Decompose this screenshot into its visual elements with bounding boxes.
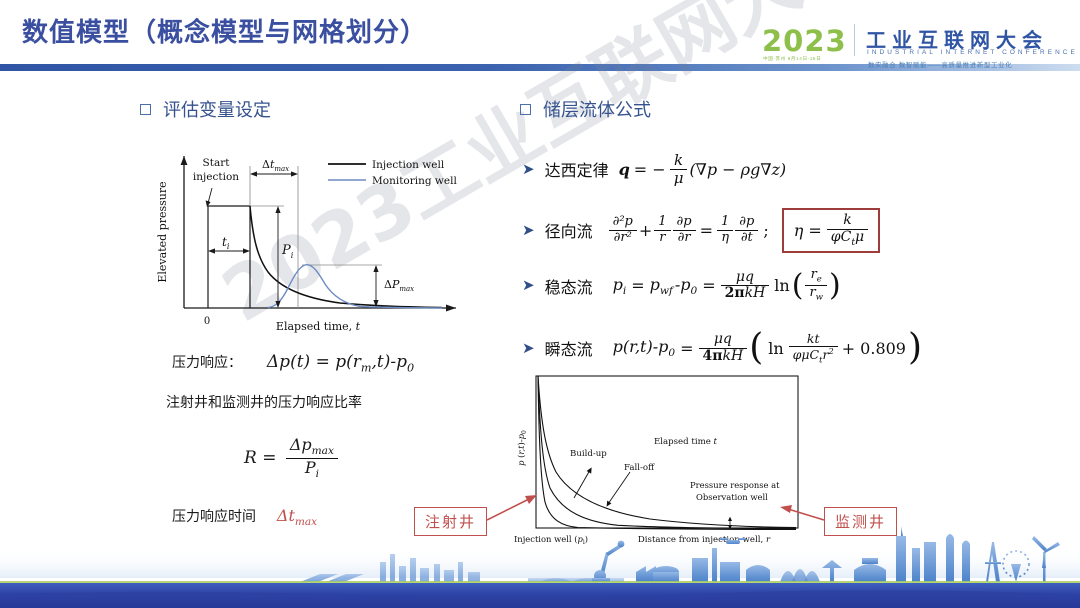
chart1-ann-start: Start: [203, 157, 231, 169]
formula-steady-math: pi = pwf -p0 = μq 2πkH ln ( re rw ): [613, 268, 841, 303]
chart1-ann-pi: Pi: [281, 243, 294, 260]
chart1-legend-injection: Injection well: [372, 159, 445, 171]
formula-transient-math: p(r,t)-p0 = μq 4πkH ( ln kt φμCtr2 + 0.8…: [613, 332, 922, 365]
formula-radial-label: 径向流: [545, 218, 593, 242]
chart1-xlabel: Elapsed time, t: [276, 320, 361, 333]
logo-slogan: 数实融合 数智赋能——高质量推进新型工业化: [868, 60, 1012, 69]
formula-darcy-label: 达西定律: [545, 157, 609, 181]
ratio-formula: R = Δpmax Pi: [244, 436, 338, 481]
section-heading-left: 评估变量设定: [140, 96, 271, 122]
response-time-row: 压力响应时间 Δtmax: [172, 506, 317, 528]
chart2-ann-response-line2: Observation well: [696, 492, 768, 502]
logo-year-subtitle: 中国·苏州 8月14日-15日: [763, 56, 821, 62]
arrow-bullet-icon: ➤: [522, 341, 535, 356]
chart1-ann-injection: injection: [193, 171, 239, 183]
section-heading-right: 储层流体公式: [520, 96, 651, 122]
chart2-corner-label: Injection well (pi): [514, 534, 588, 544]
elevated-pressure-chart: Elevated pressure Elapsed time, t 0 Star…: [150, 148, 480, 338]
chart1-legend-monitoring: Monitoring well: [372, 175, 457, 187]
chart2-ann-buildup: Build-up: [570, 449, 607, 459]
logo-divider: [854, 24, 855, 56]
arrow-bullet-icon: ➤: [522, 162, 535, 177]
formula-darcy: ➤ 达西定律 q = − k μ (∇p − ρg∇z): [522, 152, 786, 187]
pressure-response-row: 压力响应： Δp(t) = p(rm,t)-p0: [172, 352, 414, 374]
formula-transient: ➤ 瞬态流 p(r,t)-p0 = μq 4πkH ( ln kt φμCtr2…: [522, 332, 922, 365]
ratio-formula-fraction: Δpmax Pi: [286, 436, 338, 481]
formula-radial-math: ∂²p ∂r² + 1 r ∂p ∂r = 1 η ∂p ∂t ;: [609, 215, 772, 245]
ratio-note: 注射井和监测井的压力响应比率: [166, 392, 362, 412]
response-time-symbol: Δtmax: [277, 506, 317, 525]
square-bullet-icon: [140, 104, 151, 115]
response-time-label: 压力响应时间: [172, 509, 256, 525]
formula-radial: ➤ 径向流 ∂²p ∂r² + 1 r ∂p ∂r = 1 η ∂p ∂: [522, 208, 880, 253]
section-heading-left-label: 评估变量设定: [163, 96, 271, 122]
formula-steady: ➤ 稳态流 pi = pwf -p0 = μq 2πkH ln ( re rw …: [522, 268, 841, 303]
chart1-ylabel: Elevated pressure: [156, 181, 169, 282]
chart1-ann-dpmax: ΔPmax: [384, 278, 414, 293]
chart1-ann-ti: ti: [222, 235, 230, 251]
chart2-xlabel: Distance from injection well, r: [638, 535, 771, 544]
formula-darcy-math: q = − k μ (∇p − ρg∇z): [619, 152, 787, 187]
arrow-bullet-icon: ➤: [522, 223, 535, 238]
chart2-ylabel: p (r,t)-p0: [516, 430, 528, 466]
chart2-ann-response-line1: Pressure response at: [690, 480, 780, 490]
chart1-ann-dtmax: Δtmax: [262, 158, 289, 173]
conference-logo: 2023 中国·苏州 8月14日-15日 工业互联网大会 INDUSTRIAL …: [762, 22, 1062, 74]
logo-english-name: INDUSTRIAL INTERNET CONFERENCE: [867, 49, 1078, 56]
chart2-ann-elapsed: Elapsed time t: [654, 437, 718, 447]
formula-diffusivity-boxed: η = k φCtμ: [782, 208, 880, 253]
slide-root: 数值模型（概念模型与网格划分） 2023 中国·苏州 8月14日-15日 工业互…: [0, 0, 1080, 608]
chart1-origin-label: 0: [204, 316, 210, 327]
callout-monitoring-arrow: [778, 500, 826, 528]
callout-monitoring-well: 监测井: [824, 507, 897, 536]
callout-injection-well: 注射井: [414, 507, 487, 536]
pressure-response-equation: Δp(t) = p(rm,t)-p0: [267, 352, 414, 372]
pressure-response-label: 压力响应：: [172, 355, 242, 371]
chart2-ann-falloff: Fall-off: [624, 463, 655, 473]
square-bullet-icon: [520, 104, 531, 115]
pressure-distance-chart: Build-up Fall-off Elapsed time t Pressur…: [508, 372, 818, 544]
callout-injection-arrow: [487, 490, 539, 528]
page-title: 数值模型（概念模型与网格划分）: [22, 12, 427, 49]
formula-steady-label: 稳态流: [545, 274, 593, 298]
arrow-bullet-icon: ➤: [522, 278, 535, 293]
formula-transient-label: 瞬态流: [545, 336, 593, 360]
section-heading-right-label: 储层流体公式: [543, 96, 651, 122]
ratio-formula-lhs: R =: [244, 448, 276, 468]
logo-year: 2023: [762, 24, 847, 58]
